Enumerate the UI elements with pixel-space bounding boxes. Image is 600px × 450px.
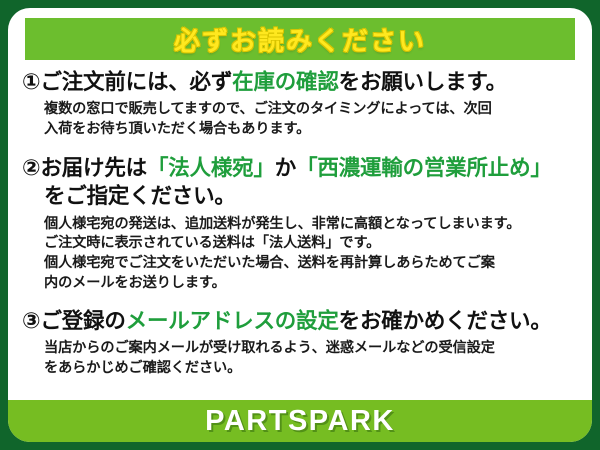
- section-2-body-line-3: 個人様宅宛でご注文をいただいた場合、送料を再計算しあらためてご案: [44, 254, 580, 274]
- notice-content: ①ご注文前には、必ず在庫の確認をお願いします。 複数の窓口で販売してますので、ご…: [8, 66, 592, 381]
- section-1-heading-highlight: 在庫の確認: [232, 70, 339, 94]
- notice-section-1: ①ご注文前には、必ず在庫の確認をお願いします。 複数の窓口で販売してますので、ご…: [22, 68, 580, 140]
- section-1-number: ①: [22, 69, 40, 94]
- section-2-heading-part-3: か: [275, 156, 296, 180]
- section-1-heading: ①ご注文前には、必ず在庫の確認をお願いします。: [22, 68, 580, 97]
- footer-band: PARTSPARK: [8, 400, 592, 442]
- inner-panel: 必ずお読みください ①ご注文前には、必ず在庫の確認をお願いします。 複数の窓口で…: [8, 8, 592, 442]
- section-2-body-line-2: ご注文時に表示されている送料は「法人送料」です。: [44, 234, 580, 254]
- section-1-heading-part-3: をお願いします。: [339, 70, 507, 94]
- section-3-heading-highlight: メールアドレスの設定: [126, 309, 339, 333]
- section-2-number: ②: [22, 155, 40, 180]
- section-3-heading-part-1: ご登録の: [40, 309, 125, 333]
- notice-banner: 必ずお読みください ①ご注文前には、必ず在庫の確認をお願いします。 複数の窓口で…: [0, 0, 600, 450]
- notice-section-2: ②お届け先は「法人様宛」か「西濃運輸の営業所止め」 をご指定ください。 個人様宅…: [22, 154, 580, 294]
- section-2-body: 個人様宅宛の発送は、追加送料が発生し、非常に高額となってしまいます。 ご注文時に…: [22, 215, 580, 295]
- section-3-heading-part-3: をお確かめください。: [339, 309, 552, 333]
- section-2-body-line-1: 個人様宅宛の発送は、追加送料が発生し、非常に高額となってしまいます。: [44, 215, 580, 235]
- section-3-body-line-2: をあらかじめご確認ください。: [44, 359, 580, 379]
- section-1-body-line-2: 入荷をお待ち頂いただく場合もあります。: [44, 120, 580, 140]
- section-1-heading-part-1: ご注文前には、必ず: [40, 70, 232, 94]
- header-title: 必ずお読みください: [174, 21, 426, 58]
- section-2-body-line-4: 内のメールをお送りします。: [44, 274, 580, 294]
- section-1-body: 複数の窓口で販売してますので、ご注文のタイミングによっては、次回 入荷をお待ち頂…: [22, 100, 580, 140]
- section-3-body-line-1: 当店からのご案内メールが受け取れるよう、迷惑メールなどの受信設定: [44, 339, 580, 359]
- section-3-body: 当店からのご案内メールが受け取れるよう、迷惑メールなどの受信設定 をあらかじめご…: [22, 339, 580, 379]
- section-1-body-line-1: 複数の窓口で販売してますので、ご注文のタイミングによっては、次回: [44, 100, 580, 120]
- section-3-heading: ③ご登録のメールアドレスの設定をお確かめください。: [22, 307, 580, 336]
- section-2-heading-highlight-1: 「法人様宛」: [147, 156, 275, 180]
- section-2-heading: ②お届け先は「法人様宛」か「西濃運輸の営業所止め」: [22, 154, 580, 183]
- section-2-heading-line-2: をご指定ください。: [22, 183, 580, 211]
- section-2-heading-highlight-2: 「西濃運輸の営業所止め」: [296, 156, 552, 180]
- notice-section-3: ③ご登録のメールアドレスの設定をお確かめください。 当店からのご案内メールが受け…: [22, 307, 580, 379]
- brand-logo: PARTSPARK: [205, 405, 395, 438]
- section-2-heading-part-1: お届け先は: [40, 156, 147, 180]
- header-band: 必ずお読みください: [25, 18, 575, 60]
- section-3-number: ③: [22, 308, 40, 333]
